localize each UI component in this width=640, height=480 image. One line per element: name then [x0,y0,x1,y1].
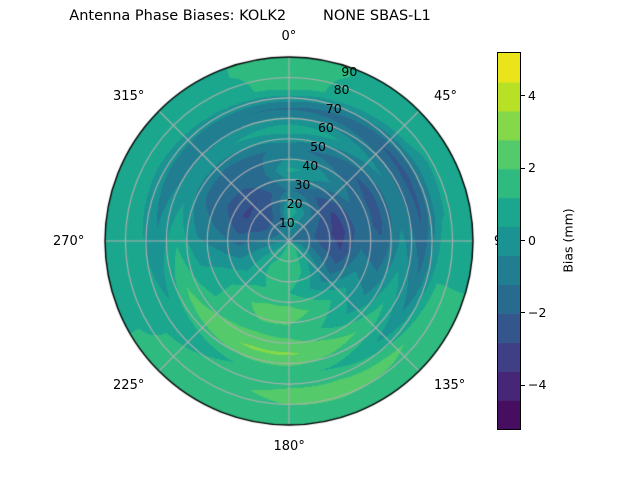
radial-tick-label-50: 50 [310,139,326,154]
polar-contour-plot[interactable] [0,0,640,480]
colorbar-tick-label-4: 4 [528,88,536,103]
angular-tick-label-180: 180° [274,439,305,454]
colorbar-tick-label-2: 2 [528,160,536,175]
angular-tick-label-45: 45° [434,89,457,104]
colorbar-tick-4 [521,95,525,96]
angular-tick-label-270: 270° [53,234,84,249]
colorbar-tick-label-0: 0 [528,233,536,248]
figure-canvas: Antenna Phase Biases: KOLK2 NONE SBAS-L1… [0,0,640,480]
radial-tick-label-40: 40 [302,158,318,173]
radial-tick-label-60: 60 [318,120,334,135]
radial-tick-label-90: 90 [341,64,357,79]
angular-tick-label-225: 225° [113,378,144,393]
colorbar-tick--4 [521,385,525,386]
colorbar-tick--2 [521,312,525,313]
radial-tick-label-20: 20 [287,196,303,211]
colorbar-tick-2 [521,168,525,169]
radial-tick-label-80: 80 [334,82,350,97]
angular-tick-label-135: 135° [434,378,465,393]
colorbar[interactable] [497,52,519,428]
radial-tick-label-70: 70 [326,101,342,116]
radial-tick-label-10: 10 [279,215,295,230]
colorbar-gradient [497,52,521,430]
colorbar-axis-label: Bias (mm) [561,208,576,272]
radial-tick-label-30: 30 [294,177,310,192]
angular-tick-label-0: 0° [282,29,297,44]
angular-tick-label-315: 315° [113,89,144,104]
colorbar-tick-label--2: −2 [528,305,546,320]
colorbar-tick-label--4: −4 [528,377,546,392]
colorbar-tick-0 [521,240,525,241]
